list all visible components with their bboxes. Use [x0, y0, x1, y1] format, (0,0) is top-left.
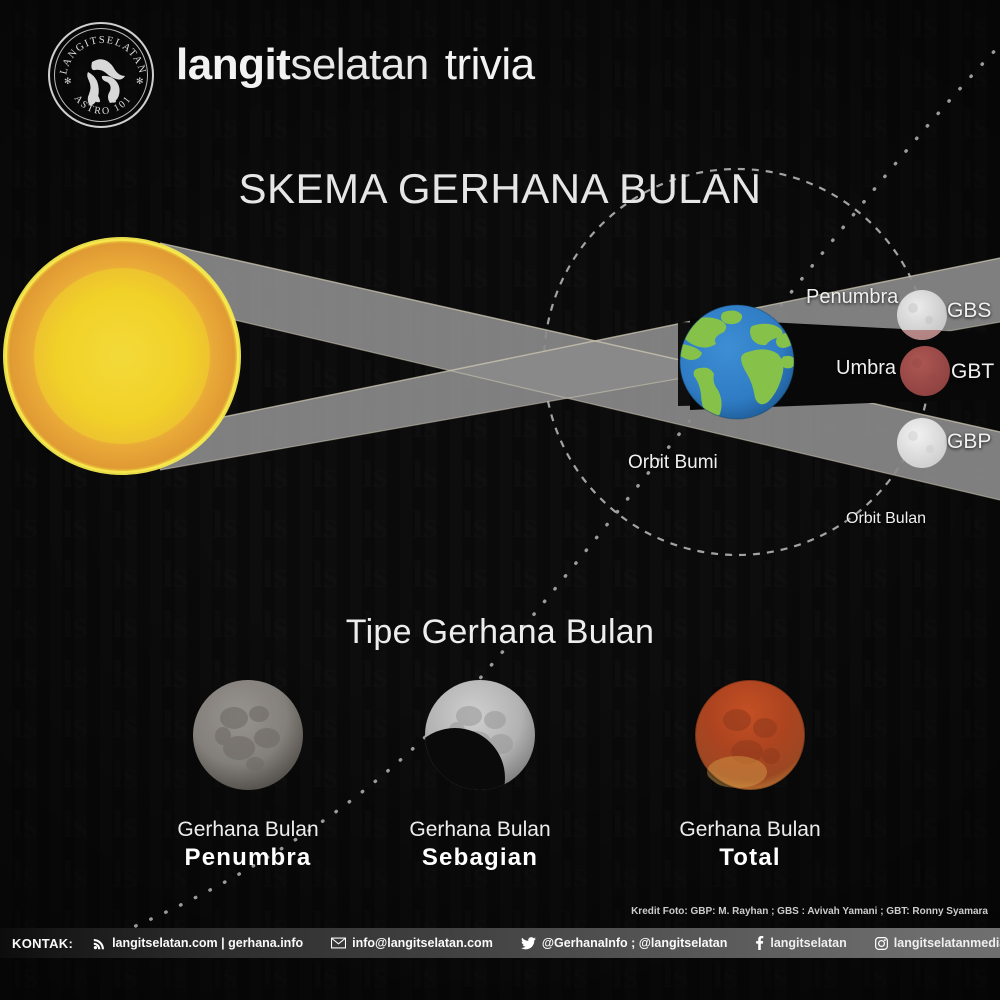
langitselatan-logo[interactable]: LANGITSELATAN ASTRO 101 ✻ ✻ [48, 22, 154, 128]
logo-rider-figure [87, 59, 125, 106]
footer-item-twitter[interactable]: @GerhanaInfo ; @langitselatan [521, 928, 728, 958]
sun [5, 239, 239, 473]
footer-twitter-text: @GerhanaInfo ; @langitselatan [542, 936, 728, 950]
label-gbt: GBT [951, 360, 994, 384]
type-caption-penumbra: Gerhana Bulan Penumbra [128, 818, 368, 873]
type-line1: Gerhana Bulan [360, 818, 600, 843]
brand-wordmark: langitselatantrivia [176, 40, 535, 90]
footer-item-website[interactable]: langitselatan.com | gerhana.info [93, 928, 303, 958]
footer-item-email[interactable]: info@langitselatan.com [331, 928, 493, 958]
moon-gbp [897, 418, 947, 468]
type-caption-total: Gerhana Bulan Total [630, 818, 870, 873]
logo-seal-art: LANGITSELATAN ASTRO 101 ✻ ✻ [50, 24, 156, 130]
twitter-icon [521, 937, 536, 950]
kontak-label: KONTAK: [12, 928, 73, 958]
brand-langit: langit [176, 40, 290, 89]
moon-total-eclipse-photo [691, 676, 809, 794]
brand-selatan: selatan [290, 40, 428, 89]
type-line2: Total [630, 843, 870, 873]
moon-penumbral-eclipse-photo [189, 676, 307, 794]
envelope-icon [331, 937, 346, 949]
svg-text:ASTRO 101: ASTRO 101 [72, 93, 134, 117]
logo-star-right: ✻ [136, 76, 144, 86]
label-orbit-bumi: Orbit Bumi [628, 452, 718, 474]
type-caption-sebagian: Gerhana Bulan Sebagian [360, 818, 600, 873]
footer-item-facebook[interactable]: langitselatan [755, 928, 846, 958]
moon-partial-eclipse-photo [421, 676, 539, 794]
brand-trivia: trivia [445, 40, 535, 89]
type-line2: Sebagian [360, 843, 600, 873]
type-item-penumbra: Gerhana Bulan Penumbra [128, 676, 368, 873]
label-umbra: Umbra [836, 357, 896, 380]
facebook-icon [755, 936, 764, 950]
type-item-sebagian: Gerhana Bulan Sebagian [360, 676, 600, 873]
logo-bottom-text: ASTRO 101 [72, 93, 134, 117]
type-line2: Penumbra [128, 843, 368, 873]
rss-icon [93, 937, 106, 950]
footer-website-text: langitselatan.com | gerhana.info [112, 936, 303, 950]
contact-footer: KONTAK: langitselatan.com | gerhana.info… [0, 928, 1000, 958]
instagram-icon [875, 937, 888, 950]
footer-instagram-text: langitselatanmedia [894, 936, 1000, 950]
type-line1: Gerhana Bulan [128, 818, 368, 843]
type-item-total: Gerhana Bulan Total [630, 676, 870, 873]
footer-facebook-text: langitselatan [770, 936, 846, 950]
moon-gbt [900, 346, 950, 396]
label-penumbra: Penumbra [806, 286, 898, 309]
footer-item-instagram[interactable]: langitselatanmedia [875, 928, 1000, 958]
logo-star-left: ✻ [64, 76, 72, 86]
footer-email-text: info@langitselatan.com [352, 936, 493, 950]
type-line1: Gerhana Bulan [630, 818, 870, 843]
label-gbp: GBP [947, 430, 991, 454]
infographic-poster: lslslslslslslslslslslslslslslslslslslsls… [0, 0, 1000, 1000]
scheme-title: SKEMA GERHANA BULAN [0, 165, 1000, 213]
photo-credit: Kredit Foto: GBP: M. Rayhan ; GBS : Aviv… [631, 906, 988, 917]
page-header: LANGITSELATAN ASTRO 101 ✻ ✻ langitselata… [0, 0, 1000, 140]
label-orbit-bulan: Orbit Bulan [846, 510, 926, 528]
label-gbs: GBS [947, 299, 991, 323]
types-title: Tipe Gerhana Bulan [0, 613, 1000, 652]
